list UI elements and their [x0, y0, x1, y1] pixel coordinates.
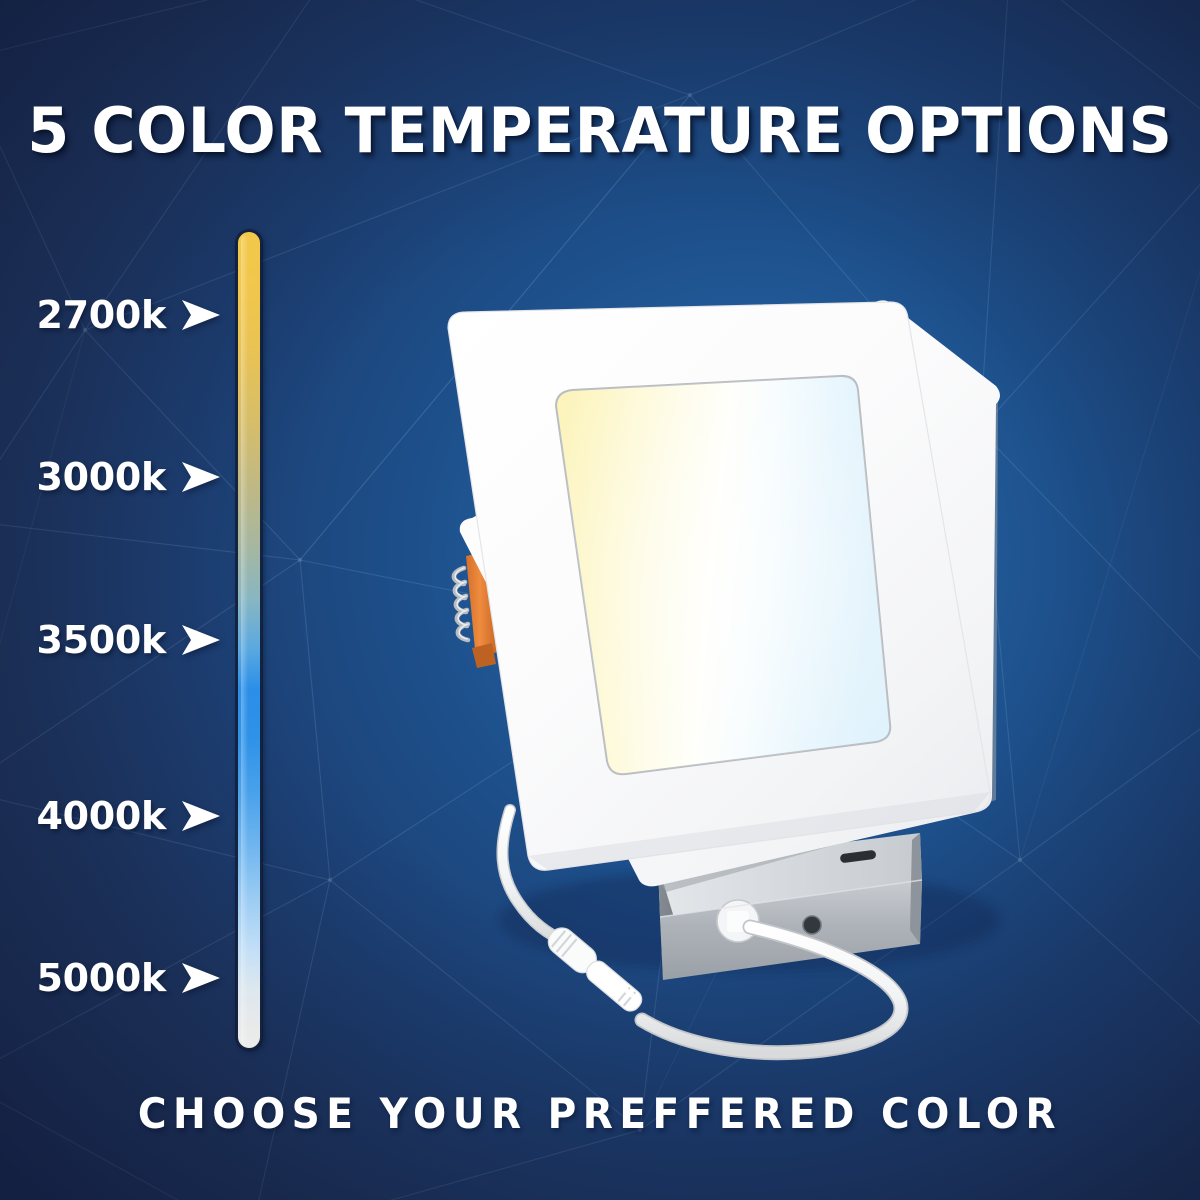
infographic-canvas: 5 COLOR TEMPERATURE OPTIONS [0, 0, 1200, 1200]
arrow-right-icon [180, 622, 222, 658]
temp-stop-3000k[interactable]: 3000k [0, 451, 236, 503]
temp-label-2700k: 2700k [36, 293, 166, 337]
temp-stop-5000k[interactable]: 5000k [0, 952, 236, 1004]
arrow-right-icon [180, 459, 222, 495]
color-temperature-gradient-bar[interactable] [236, 230, 262, 1050]
product-image-led-panel-light [420, 280, 1060, 1080]
temp-label-5000k: 5000k [36, 956, 166, 1000]
arrow-right-icon [180, 798, 222, 834]
temp-label-3000k: 3000k [36, 455, 166, 499]
footer-caption: CHOOSE YOUR PREFFERED COLOR [42, 1089, 1158, 1138]
temp-stop-3500k[interactable]: 3500k [0, 614, 236, 666]
page-title: 5 COLOR TEMPERATURE OPTIONS [18, 100, 1182, 162]
temp-label-3500k: 3500k [36, 618, 166, 662]
arrow-right-icon [180, 297, 222, 333]
panel-lens-glow [556, 376, 890, 774]
temp-stop-4000k[interactable]: 4000k [0, 790, 236, 842]
arrow-right-icon [180, 960, 222, 996]
gradient-bar-sheen [241, 236, 248, 1044]
temp-stop-2700k[interactable]: 2700k [0, 289, 236, 341]
temp-label-4000k: 4000k [36, 794, 166, 838]
